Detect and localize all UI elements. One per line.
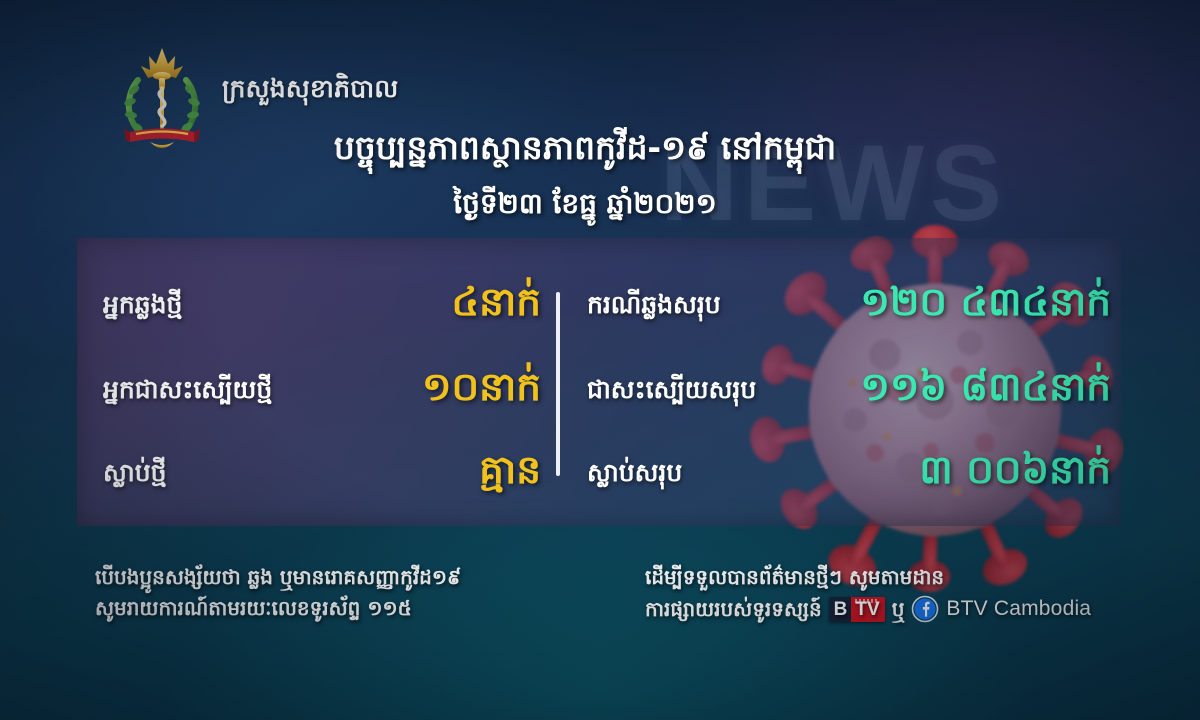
infographic-canvas: NEWS bbox=[0, 0, 1200, 720]
background-vignette bbox=[0, 0, 1200, 720]
